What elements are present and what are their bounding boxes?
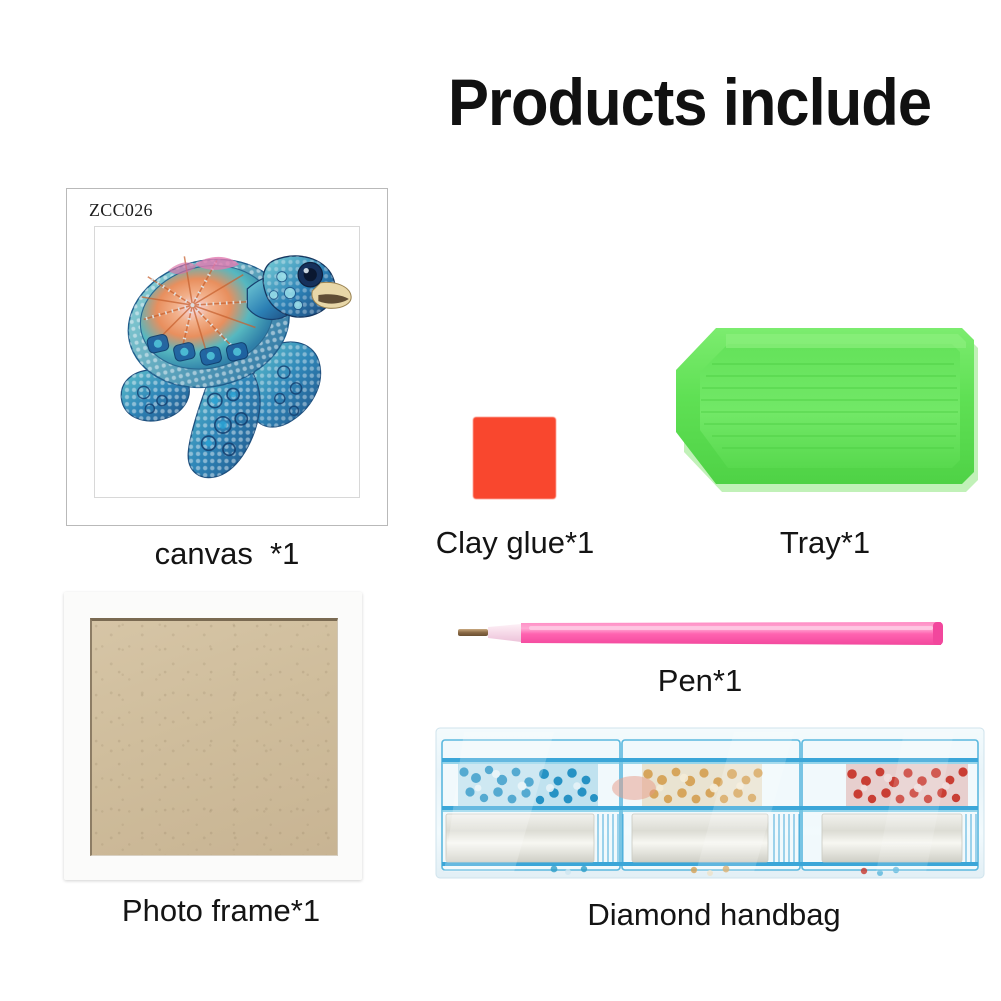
diamond-tray	[666, 318, 984, 508]
frame-backing-board	[90, 618, 338, 856]
diamond-handbag	[434, 722, 986, 888]
pen-shape	[455, 615, 945, 655]
photo-frame-caption: Photo frame*1	[56, 893, 386, 929]
canvas-print: ZCC026	[66, 188, 388, 526]
product-contents-image: Products include ZCC026	[0, 0, 1001, 1001]
tray-shape	[666, 318, 984, 508]
tray-caption: Tray*1	[666, 525, 984, 561]
page-title: Products include	[448, 66, 960, 138]
canvas-artwork-area	[94, 226, 360, 498]
sea-turtle-artwork	[95, 227, 359, 497]
rhinestone-bags	[434, 722, 986, 888]
clay-glue-square	[473, 417, 556, 499]
pen-caption: Pen*1	[590, 663, 810, 699]
canvas-caption: canvas *1	[66, 536, 388, 572]
diamond-handbag-caption: Diamond handbag	[514, 897, 914, 933]
photo-frame	[64, 592, 362, 880]
canvas-sku-label: ZCC026	[89, 200, 153, 221]
clay-glue-caption: Clay glue*1	[405, 525, 625, 561]
drill-pen	[455, 615, 945, 655]
